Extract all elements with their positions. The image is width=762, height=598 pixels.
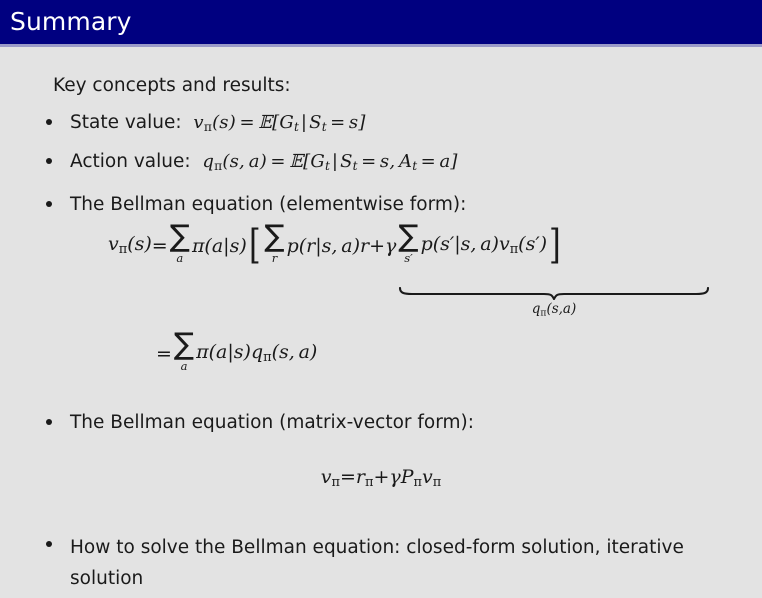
policy-term: π(a|s) — [192, 235, 247, 257]
summation-over-a: ∑ a — [174, 331, 194, 372]
bullet-label-action-value: Action value: — [70, 151, 191, 172]
page-title: Summary — [10, 6, 132, 38]
policy-action-value-term: π(a|s)qπ(s, a) — [196, 341, 317, 365]
summation-over-r: ∑ r — [264, 223, 284, 264]
list-item-bellman-elementwise: The Bellman equation (elementwise form): — [46, 192, 466, 218]
mv-reward: rπ — [356, 466, 374, 488]
summation-over-s-prime: ∑ s′ — [398, 223, 418, 264]
math-state-value: vπ(s)=𝔼[Gt|St=s] — [188, 112, 366, 133]
equation-bellman-matrix-vector: vπ=rπ+γPπvπ — [0, 466, 762, 490]
sum-index-a: a — [176, 252, 183, 264]
bullet-dot-icon — [46, 119, 52, 125]
bullet-dot-icon — [46, 541, 52, 547]
underbrace-group: qπ(s,a) — [398, 287, 710, 318]
mv-plus: + — [373, 466, 389, 488]
underbrace-icon — [398, 287, 710, 300]
equation-line-1: vπ(s) = ∑ a π(a|s) [ ∑ r p(r|s, a)r + γ … — [108, 225, 563, 266]
eq-plus: + — [369, 235, 385, 257]
mv-gamma-P-v: γPπvπ — [389, 466, 441, 488]
sigma-icon: ∑ — [174, 331, 194, 359]
gamma-symbol: γ — [385, 235, 396, 257]
eq-equals: = — [152, 235, 168, 257]
list-item-state-value: State value: vπ(s)=𝔼[Gt|St=s] — [46, 110, 366, 140]
bracket-close-icon: ] — [549, 228, 561, 262]
eq-lhs: vπ(s) — [108, 233, 152, 257]
bullet-label-bellman-elementwise: The Bellman equation (elementwise form): — [70, 192, 466, 218]
list-item-how-to-solve: How to solve the Bellman equation: close… — [46, 532, 760, 594]
transition-value-term: p(s′|s, a)vπ(s′) — [421, 233, 547, 257]
mv-lhs: vπ — [321, 466, 340, 488]
bullet-dot-icon — [46, 419, 52, 425]
bracket-open-icon: [ — [249, 228, 261, 262]
mv-equals: = — [340, 466, 356, 488]
equation-bellman-elementwise: vπ(s) = ∑ a π(a|s) [ ∑ r p(r|s, a)r + γ … — [108, 225, 563, 266]
eq-equals: = — [156, 343, 172, 365]
equation-line-2: = ∑ a π(a|s)qπ(s, a) — [156, 333, 317, 374]
sigma-icon: ∑ — [398, 223, 418, 251]
sigma-icon: ∑ — [264, 223, 284, 251]
bullet-dot-icon — [46, 201, 52, 207]
math-action-value: qπ(s, a)=𝔼[Gt|St=s, At=a] — [196, 151, 457, 172]
underbrace-label: qπ(s,a) — [398, 301, 710, 318]
list-item-bellman-matrix-vector: The Bellman equation (matrix-vector form… — [46, 410, 474, 436]
bullet-label-bellman-matrix-vector: The Bellman equation (matrix-vector form… — [70, 410, 474, 436]
sigma-icon: ∑ — [170, 223, 190, 251]
bullet-dot-icon — [46, 158, 52, 164]
sum-index-a: a — [181, 360, 188, 372]
bullet-label-state-value: State value: — [70, 112, 182, 133]
reward-prob-term: p(r|s, a)r — [287, 235, 370, 257]
sum-index-r: r — [272, 252, 278, 264]
summation-over-a: ∑ a — [170, 223, 190, 264]
bullet-label-how-to-solve: How to solve the Bellman equation: close… — [70, 532, 760, 594]
intro-text: Key concepts and results: — [53, 74, 291, 98]
list-item-action-value: Action value: qπ(s, a)=𝔼[Gt|St=s, At=a] — [46, 149, 458, 179]
slide-content: Key concepts and results: State value: v… — [0, 47, 762, 598]
sum-index-s-prime: s′ — [404, 252, 413, 264]
